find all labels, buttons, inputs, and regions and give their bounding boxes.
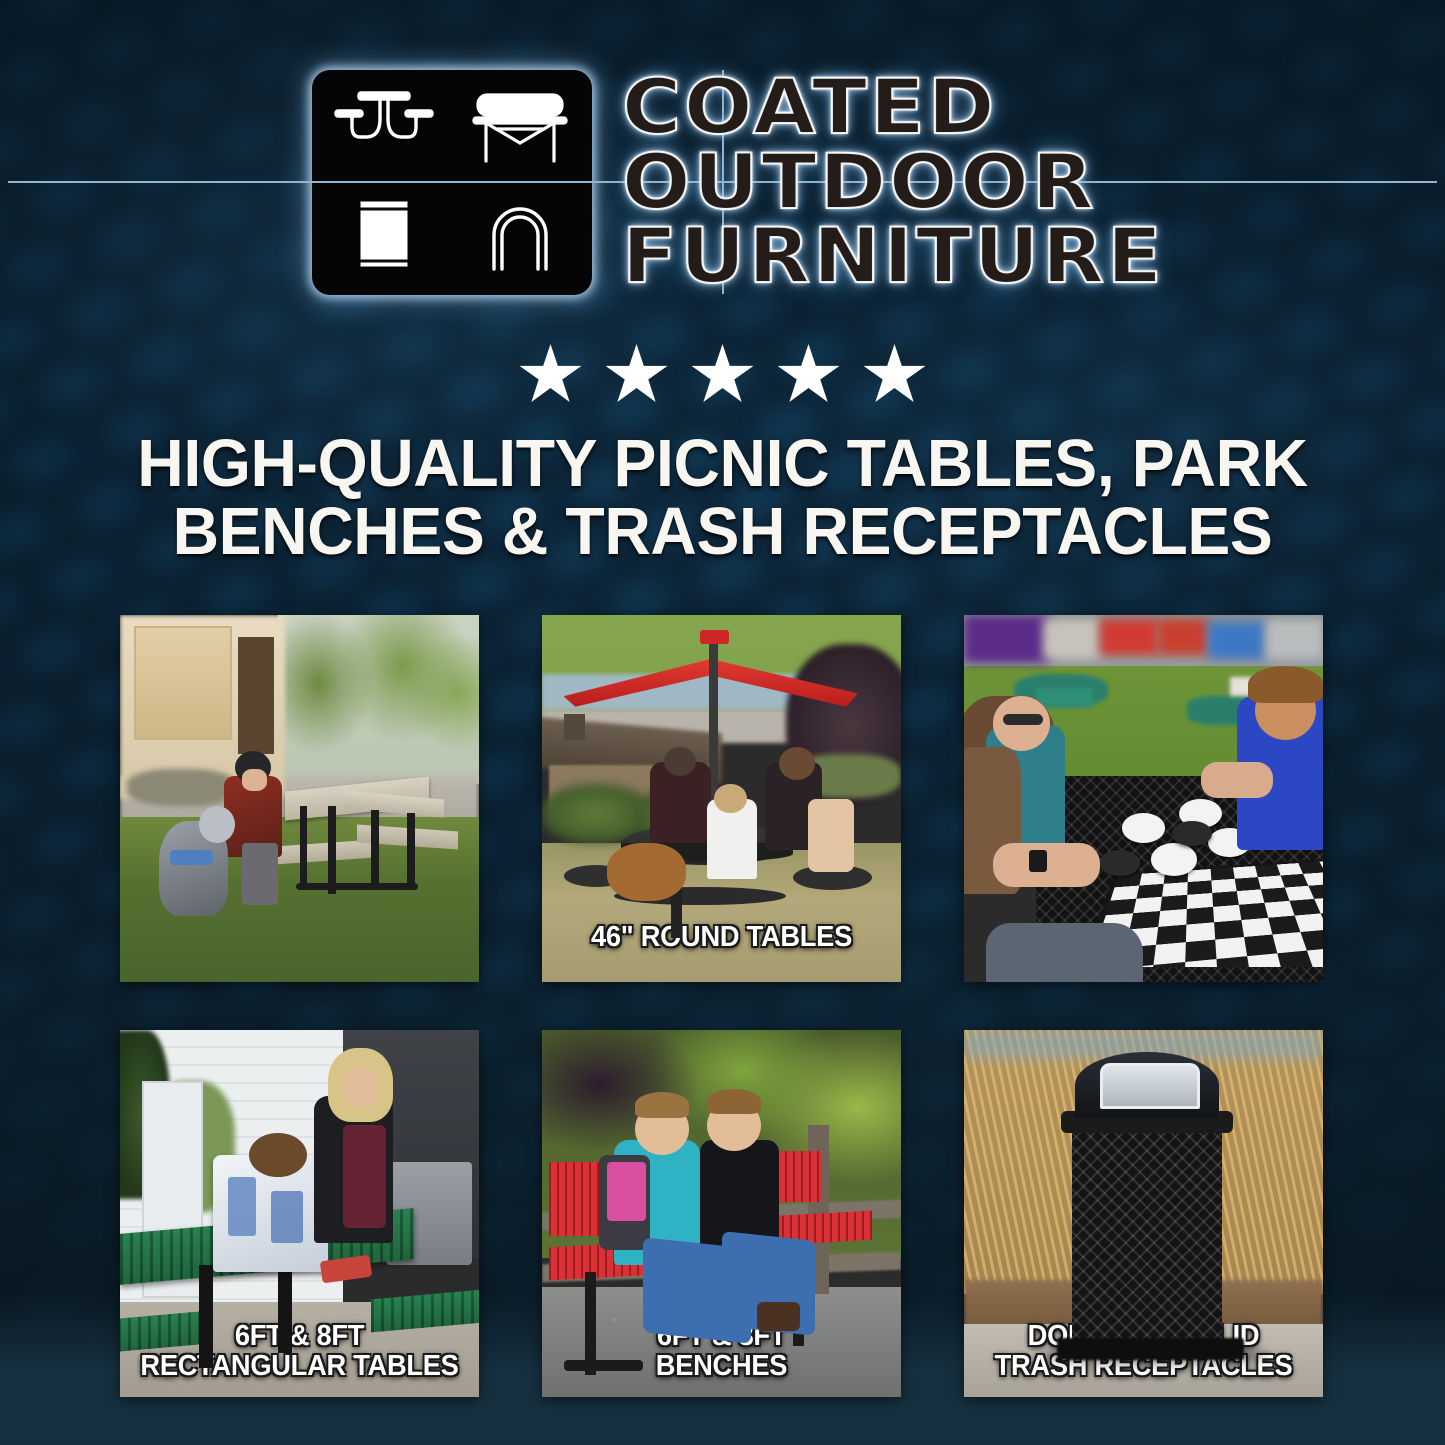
trash-receptacle-icon [316,182,452,291]
logo-wordmark: COATED OUTDOOR FURNITURE [622,71,1134,294]
product-caption-line-1: 6FT & 8FT [235,1320,364,1352]
star-icon [520,344,582,406]
product-tile-round-tables[interactable]: 46" ROUND TABLES [542,615,901,982]
logo-line-1: COATED [622,71,1165,144]
star-rating [0,338,1445,412]
logo-line-2: OUTDOOR [622,146,1165,219]
photo-game-tables [964,615,1323,982]
logo-icon-grid [312,70,592,295]
star-icon [692,344,754,406]
logo-line-3: FURNITURE [622,220,1165,293]
product-tile-benches[interactable]: 6FT & 8FT BENCHES [542,1030,901,1397]
picnic-table-icon [316,74,452,183]
bike-rack-arch-icon [452,182,588,291]
product-grid: 46" SQUARE TABLES [120,615,1323,1397]
photo-square-tables [120,615,479,982]
headline-line-2: BENCHES & TRASH RECEPTACLES [96,498,1349,566]
headline-line-1: HIGH-QUALITY PICNIC TABLES, PARK [96,430,1349,498]
headline: HIGH-QUALITY PICNIC TABLES, PARK BENCHES… [29,430,1416,567]
brand-logo: COATED OUTDOOR FURNITURE [0,62,1445,302]
product-tile-rectangular-tables[interactable]: 6FT & 8FT RECTANGULAR TABLES [120,1030,479,1397]
bench-side-icon [452,74,588,183]
star-icon [606,344,668,406]
product-tile-game-tables[interactable]: 46" GAME TABLES [964,615,1323,982]
product-caption: 46" ROUND TABLES [553,922,890,952]
product-caption-line-2: RECTANGULAR TABLES [140,1350,458,1382]
star-icon [778,344,840,406]
product-caption-line-2: BENCHES [656,1350,787,1382]
product-tile-square-tables[interactable]: 46" SQUARE TABLES [120,615,479,982]
star-icon [864,344,926,406]
product-tile-trash-receptacles[interactable]: DOME & FLAT LID TRASH RECEPTACLES [964,1030,1323,1397]
